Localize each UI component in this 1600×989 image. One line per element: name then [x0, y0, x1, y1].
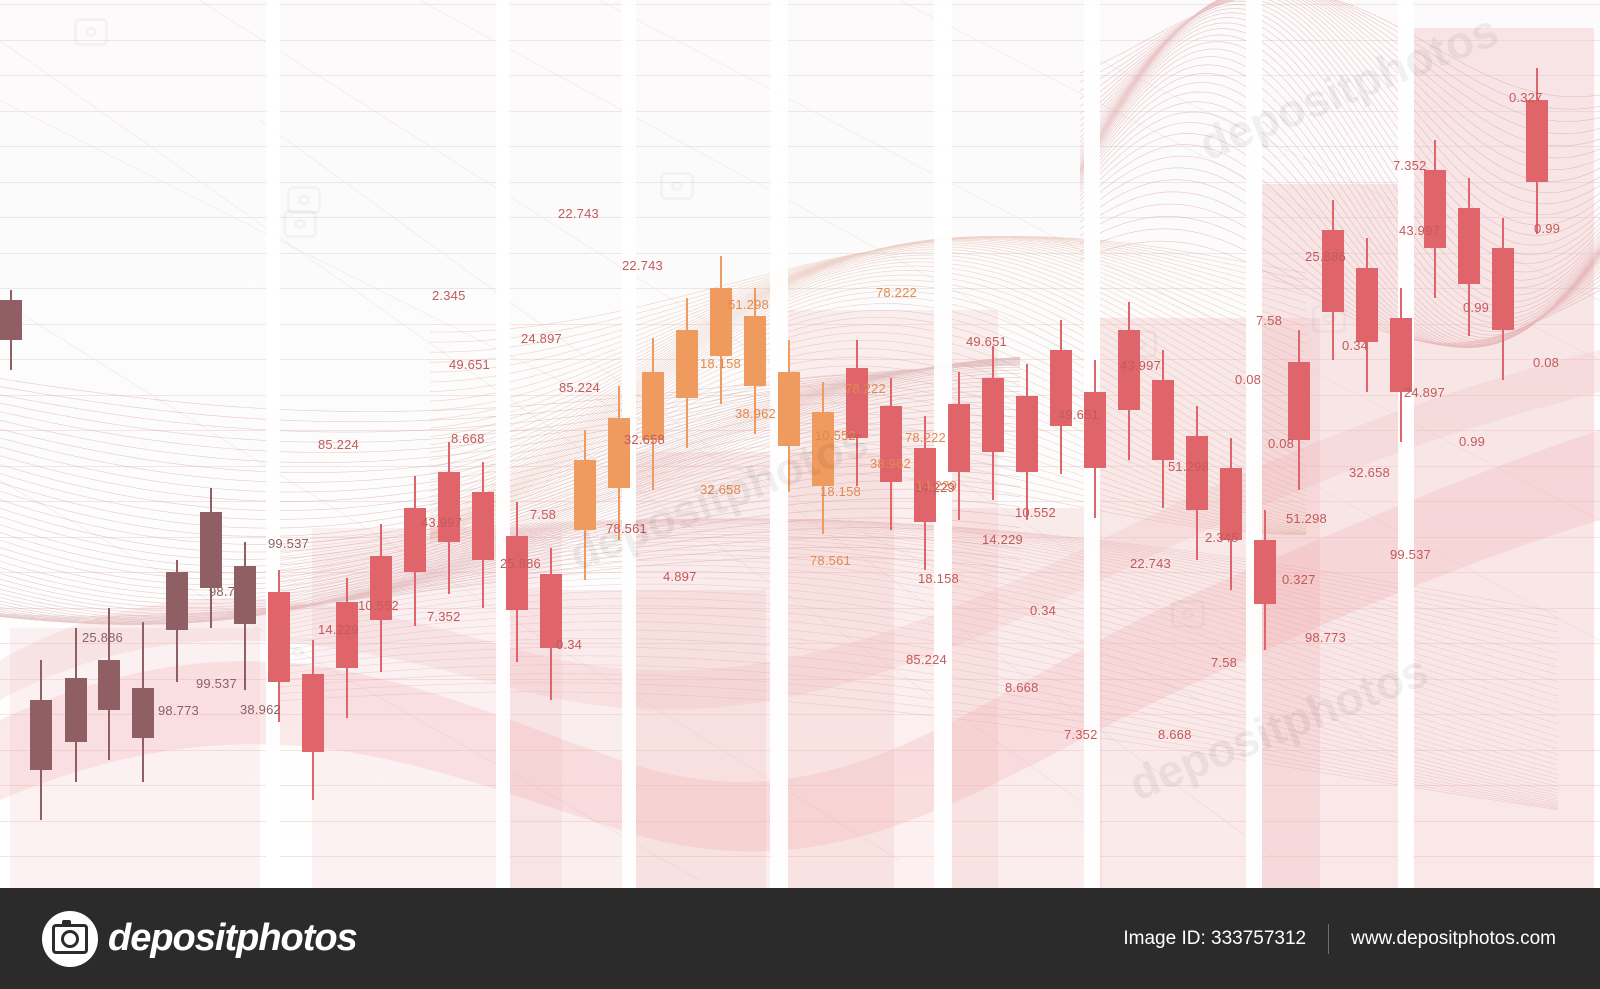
value-label: 8.668: [1005, 680, 1039, 695]
value-label: 25.886: [500, 556, 541, 571]
value-label: 10.552: [1015, 505, 1056, 520]
value-label: 0.08: [1533, 355, 1559, 370]
candlestick: [982, 0, 1004, 888]
value-label: 99.537: [268, 536, 309, 551]
value-label: 49.651: [1058, 407, 1099, 422]
candle-body: [948, 404, 970, 472]
value-label: 78.222: [905, 430, 946, 445]
value-label: 85.224: [906, 652, 947, 667]
value-label: 43.997: [1399, 223, 1440, 238]
watermark-camera-icon: [287, 186, 321, 214]
value-label: 32.658: [624, 432, 665, 447]
brand-name: depositphotos: [108, 917, 357, 960]
candle-body: [1356, 268, 1378, 342]
value-label: 2.345: [432, 288, 466, 303]
value-label: 22.743: [622, 258, 663, 273]
value-label: 22.743: [558, 206, 599, 221]
value-label: 43.997: [1120, 358, 1161, 373]
candlestick: [1016, 0, 1038, 888]
value-label: 0.08: [1268, 436, 1294, 451]
candle-body: [1152, 380, 1174, 460]
value-label: 7.352: [1064, 727, 1098, 742]
value-label: 78.222: [876, 285, 917, 300]
candlestick: [880, 0, 902, 888]
candle-body: [268, 592, 290, 682]
candlestick: [1424, 0, 1446, 888]
value-label: 14.229: [982, 532, 1023, 547]
value-label: 18.158: [820, 484, 861, 499]
candlestick: [1492, 0, 1514, 888]
candlestick: [268, 0, 290, 888]
candle-body: [0, 300, 22, 340]
value-label: 7.58: [530, 507, 556, 522]
watermark-camera-icon: [1312, 305, 1346, 333]
candlestick: [0, 0, 22, 888]
value-label: 49.651: [966, 334, 1007, 349]
candle-body: [608, 418, 630, 488]
candlestick: [574, 0, 596, 888]
value-label: 7.352: [427, 609, 461, 624]
chart-plot-area: 22.74322.7432.34524.89749.65185.22485.22…: [0, 0, 1600, 888]
candle-body: [30, 700, 52, 770]
candle-body: [438, 472, 460, 542]
value-label: 7.58: [1211, 655, 1237, 670]
candle-body: [1390, 318, 1412, 392]
value-label: 0.99: [1534, 221, 1560, 236]
value-label: 0.34: [1342, 338, 1368, 353]
value-label: 8.668: [451, 431, 485, 446]
value-label: 0.99: [1459, 434, 1485, 449]
candlestick: [1322, 0, 1344, 888]
candle-body: [1526, 100, 1548, 182]
value-label: 38.962: [735, 406, 776, 421]
value-label: 99.537: [1390, 547, 1431, 562]
candlestick: [676, 0, 698, 888]
candlestick: [370, 0, 392, 888]
depositphotos-footer: depositphotos Image ID: 333757312 www.de…: [0, 888, 1600, 989]
candlestick: [744, 0, 766, 888]
candle-body: [65, 678, 87, 742]
candle-body: [1288, 362, 1310, 440]
candlestick: [506, 0, 528, 888]
candlestick: [234, 0, 256, 888]
candle-body: [506, 536, 528, 610]
candle-body: [98, 660, 120, 710]
candlestick: [98, 0, 120, 888]
value-label: 4.897: [663, 569, 697, 584]
value-label: 25.886: [82, 630, 123, 645]
value-label: 98.773: [158, 703, 199, 718]
value-label: 51.298: [728, 297, 769, 312]
value-label: 14.229: [318, 622, 359, 637]
candlestick: [1526, 0, 1548, 888]
camera-logo-icon: [42, 911, 98, 967]
value-label: 85.224: [318, 437, 359, 452]
candlestick: [710, 0, 732, 888]
value-label: 49.651: [449, 357, 490, 372]
value-label: 99.537: [196, 676, 237, 691]
value-label: 0.08: [1235, 372, 1261, 387]
value-label: 43.997: [421, 515, 462, 530]
candle-body: [642, 372, 664, 440]
candlestick: [65, 0, 87, 888]
candlestick: [30, 0, 52, 888]
value-label: 38.962: [870, 456, 911, 471]
candle-body: [1254, 540, 1276, 604]
watermark-camera-icon: [1123, 330, 1157, 358]
candle-body: [1322, 230, 1344, 312]
value-label: 0.34: [556, 637, 582, 652]
value-label: 14.229: [914, 480, 955, 495]
value-label: 25.886: [1305, 249, 1346, 264]
candlestick: [132, 0, 154, 888]
candlestick: [948, 0, 970, 888]
footer-meta: Image ID: 333757312 www.depositphotos.co…: [1123, 924, 1556, 954]
candlestick: [540, 0, 562, 888]
candle-body: [1458, 208, 1480, 284]
candle-body: [1492, 248, 1514, 330]
candle-body: [132, 688, 154, 738]
candle-body: [166, 572, 188, 630]
value-label: 38.962: [240, 702, 281, 717]
candle-body: [676, 330, 698, 398]
value-label: 98.773: [1305, 630, 1346, 645]
value-label: 78.561: [810, 553, 851, 568]
candle-body: [200, 512, 222, 588]
brand-lockup: depositphotos: [42, 911, 357, 967]
candlestick: [1050, 0, 1072, 888]
candle-body: [302, 674, 324, 752]
watermark-camera-icon: [660, 172, 694, 200]
value-label: 2.345: [1205, 530, 1239, 545]
candlestick: [404, 0, 426, 888]
value-label: 85.224: [559, 380, 600, 395]
watermark-camera-icon: [281, 638, 315, 666]
value-label: 51.298: [1168, 459, 1209, 474]
candle-body: [1084, 392, 1106, 468]
value-label: 32.658: [1349, 465, 1390, 480]
candle-body: [1016, 396, 1038, 472]
value-label: 22.743: [1130, 556, 1171, 571]
value-label: 98.773: [209, 584, 250, 599]
value-label: 0.34: [1030, 603, 1056, 618]
candle-body: [744, 316, 766, 386]
value-label: 7.58: [1256, 313, 1282, 328]
value-label: 24.897: [1404, 385, 1445, 400]
value-label: 18.158: [918, 571, 959, 586]
site-url[interactable]: www.depositphotos.com: [1351, 928, 1556, 950]
candle-body: [982, 378, 1004, 452]
value-label: 0.99: [1463, 300, 1489, 315]
value-label: 78.222: [845, 381, 886, 396]
candlestick: [1084, 0, 1106, 888]
watermark-camera-icon: [283, 210, 317, 238]
candlestick: [200, 0, 222, 888]
candlestick: [1356, 0, 1378, 888]
value-label: 24.897: [521, 331, 562, 346]
footer-divider: [1328, 924, 1329, 954]
watermark-camera-icon: [74, 18, 108, 46]
value-label: 7.352: [1393, 158, 1427, 173]
candlestick: [1390, 0, 1412, 888]
value-label: 0.327: [1282, 572, 1316, 587]
candlestick: [166, 0, 188, 888]
value-label: 10.552: [358, 598, 399, 613]
value-label: 0.327: [1509, 90, 1543, 105]
value-label: 18.158: [700, 356, 741, 371]
value-label: 51.298: [1286, 511, 1327, 526]
stock-chart-stock-photo: 22.74322.7432.34524.89749.65185.22485.22…: [0, 0, 1600, 989]
image-id-label: Image ID: 333757312: [1123, 928, 1306, 950]
watermark-camera-icon: [1171, 600, 1205, 628]
candle-body: [472, 492, 494, 560]
